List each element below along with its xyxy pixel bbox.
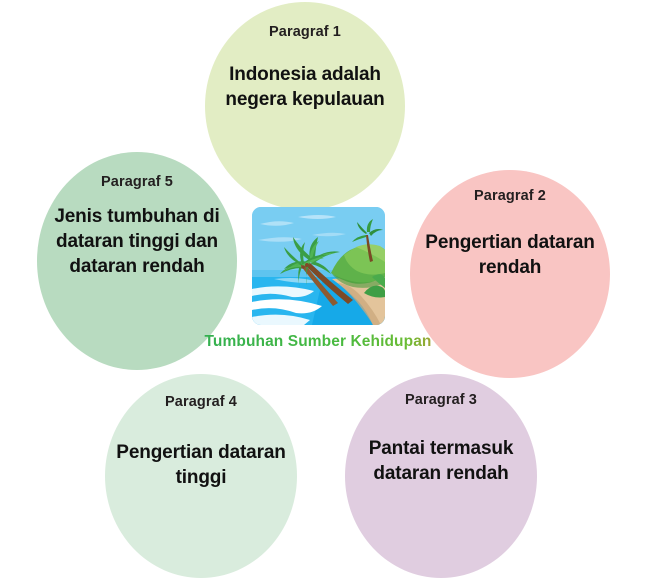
bubble-text-paragraf-5: Jenis tumbuhan di dataran tinggi dan dat… xyxy=(42,204,232,279)
bubble-text-paragraf-1: Indonesia adalah negera kepulauan xyxy=(213,62,398,112)
bubble-tag-paragraf-3: Paragraf 3 xyxy=(405,392,477,408)
mind-map-diagram: Paragraf 1 Indonesia adalah negera kepul… xyxy=(0,0,650,582)
bubble-paragraf-4[interactable]: Paragraf 4 Pengertian dataran tinggi xyxy=(105,374,297,578)
bubble-paragraf-3[interactable]: Paragraf 3 Pantai termasuk dataran renda… xyxy=(345,374,537,578)
bubble-paragraf-1[interactable]: Paragraf 1 Indonesia adalah negera kepul… xyxy=(205,2,405,210)
bubble-tag-paragraf-4: Paragraf 4 xyxy=(165,394,237,410)
center-caption: Tumbuhan Sumber Kehidupan xyxy=(178,333,458,351)
bubble-tag-paragraf-1: Paragraf 1 xyxy=(269,24,341,40)
beach-illustration-image xyxy=(252,207,385,325)
bubble-tag-paragraf-5: Paragraf 5 xyxy=(101,174,173,190)
bubble-text-paragraf-4: Pengertian dataran tinggi xyxy=(107,440,295,490)
bubble-tag-paragraf-2: Paragraf 2 xyxy=(474,188,546,204)
bubble-text-paragraf-2: Pengertian dataran rendah xyxy=(415,230,605,280)
bubble-text-paragraf-3: Pantai termasuk dataran rendah xyxy=(348,436,534,486)
